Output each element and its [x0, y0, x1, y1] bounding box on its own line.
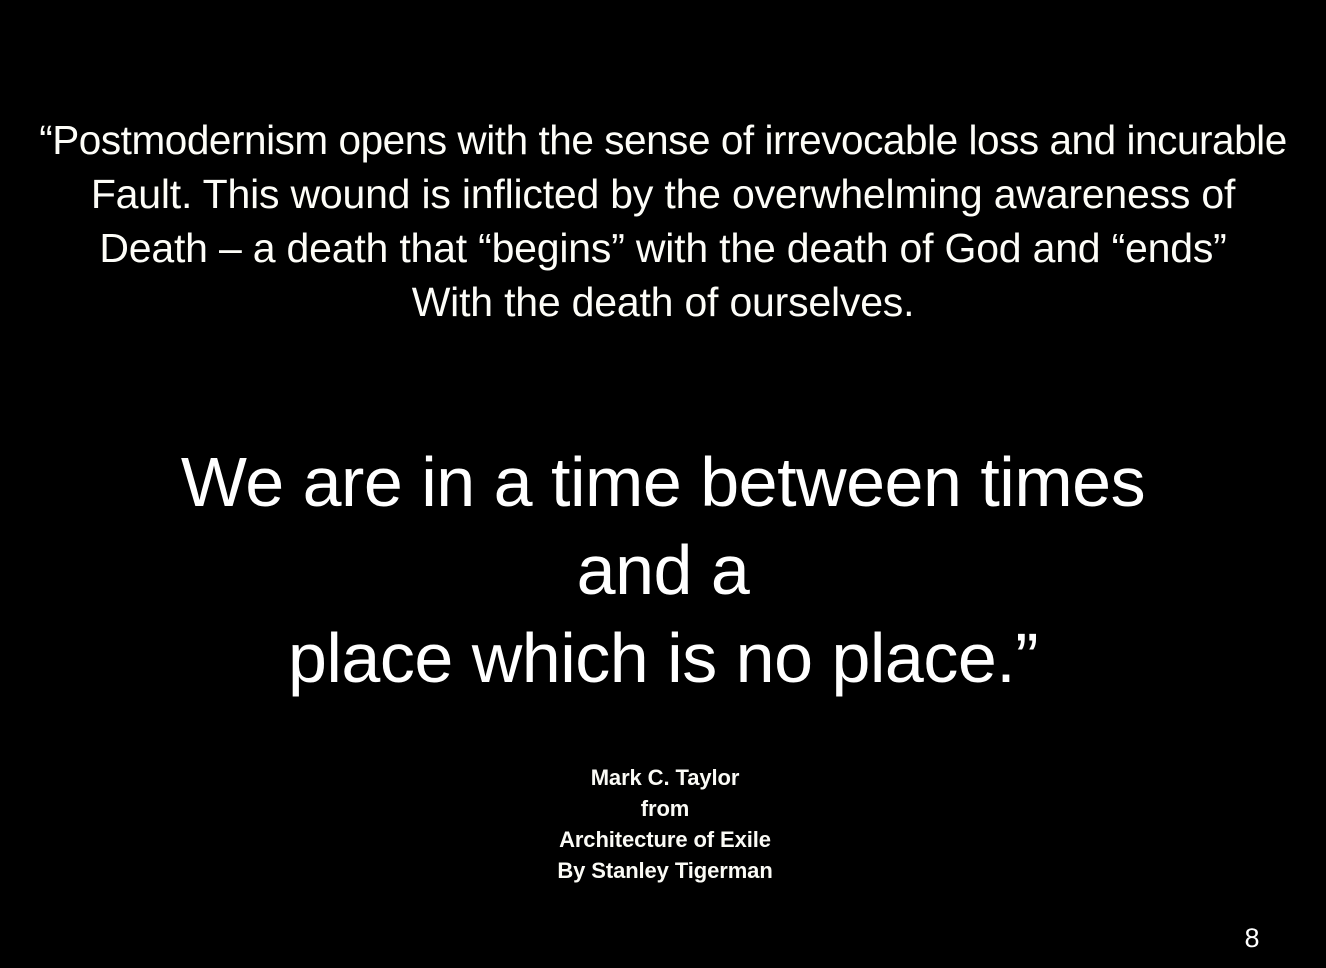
statement-line-2: and a — [0, 526, 1326, 614]
quote-paragraph: “Postmodernism opens with the sense of i… — [0, 113, 1326, 329]
slide-canvas: “Postmodernism opens with the sense of i… — [0, 0, 1326, 968]
attribution-connector: from — [4, 793, 1326, 824]
statement-line-1: We are in a time between times — [0, 438, 1326, 526]
statement-paragraph: We are in a time between times and a pla… — [0, 438, 1326, 702]
quote-line-1: “Postmodernism opens with the sense of i… — [0, 113, 1326, 167]
attribution: Mark C. Taylor from Architecture of Exil… — [0, 762, 1326, 886]
attribution-author: Mark C. Taylor — [4, 762, 1326, 793]
quote-line-4: With the death of ourselves. — [0, 275, 1326, 329]
attribution-work-title: Architecture of Exile — [4, 824, 1326, 855]
quote-line-2: Fault. This wound is inflicted by the ov… — [0, 167, 1326, 221]
statement-line-3: place which is no place.” — [0, 614, 1326, 702]
quote-line-3: Death – a death that “begins” with the d… — [0, 221, 1326, 275]
page-number: 8 — [1232, 922, 1272, 954]
attribution-credit: By Stanley Tigerman — [4, 855, 1326, 886]
